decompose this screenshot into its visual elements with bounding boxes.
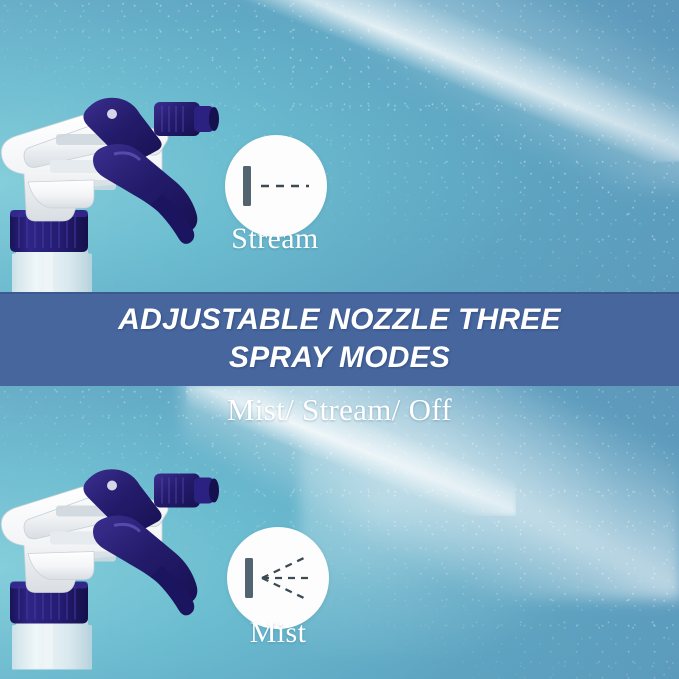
banner-headline-line2: SPRAY MODES	[229, 339, 450, 377]
mist-mode-badge	[227, 527, 329, 629]
panel-stream: Stream	[0, 0, 679, 292]
mist-mode-label: Mist	[158, 616, 398, 650]
product-infographic: Stream ADJUSTABLE NOZZLE THREE SPRAY MOD…	[0, 0, 679, 679]
headline-banner: ADJUSTABLE NOZZLE THREE SPRAY MODES	[0, 292, 679, 386]
stream-mode-label: Stream	[155, 222, 395, 256]
banner-headline-line1: ADJUSTABLE NOZZLE THREE	[118, 301, 560, 339]
stream-pattern-icon	[237, 160, 315, 212]
spray-bottle-trigger-top	[0, 62, 254, 292]
spray-modes-subtitle: Mist/ Stream/ Off	[0, 392, 679, 428]
banner-top-rule	[0, 292, 679, 294]
mist-pattern-icon	[238, 548, 318, 608]
